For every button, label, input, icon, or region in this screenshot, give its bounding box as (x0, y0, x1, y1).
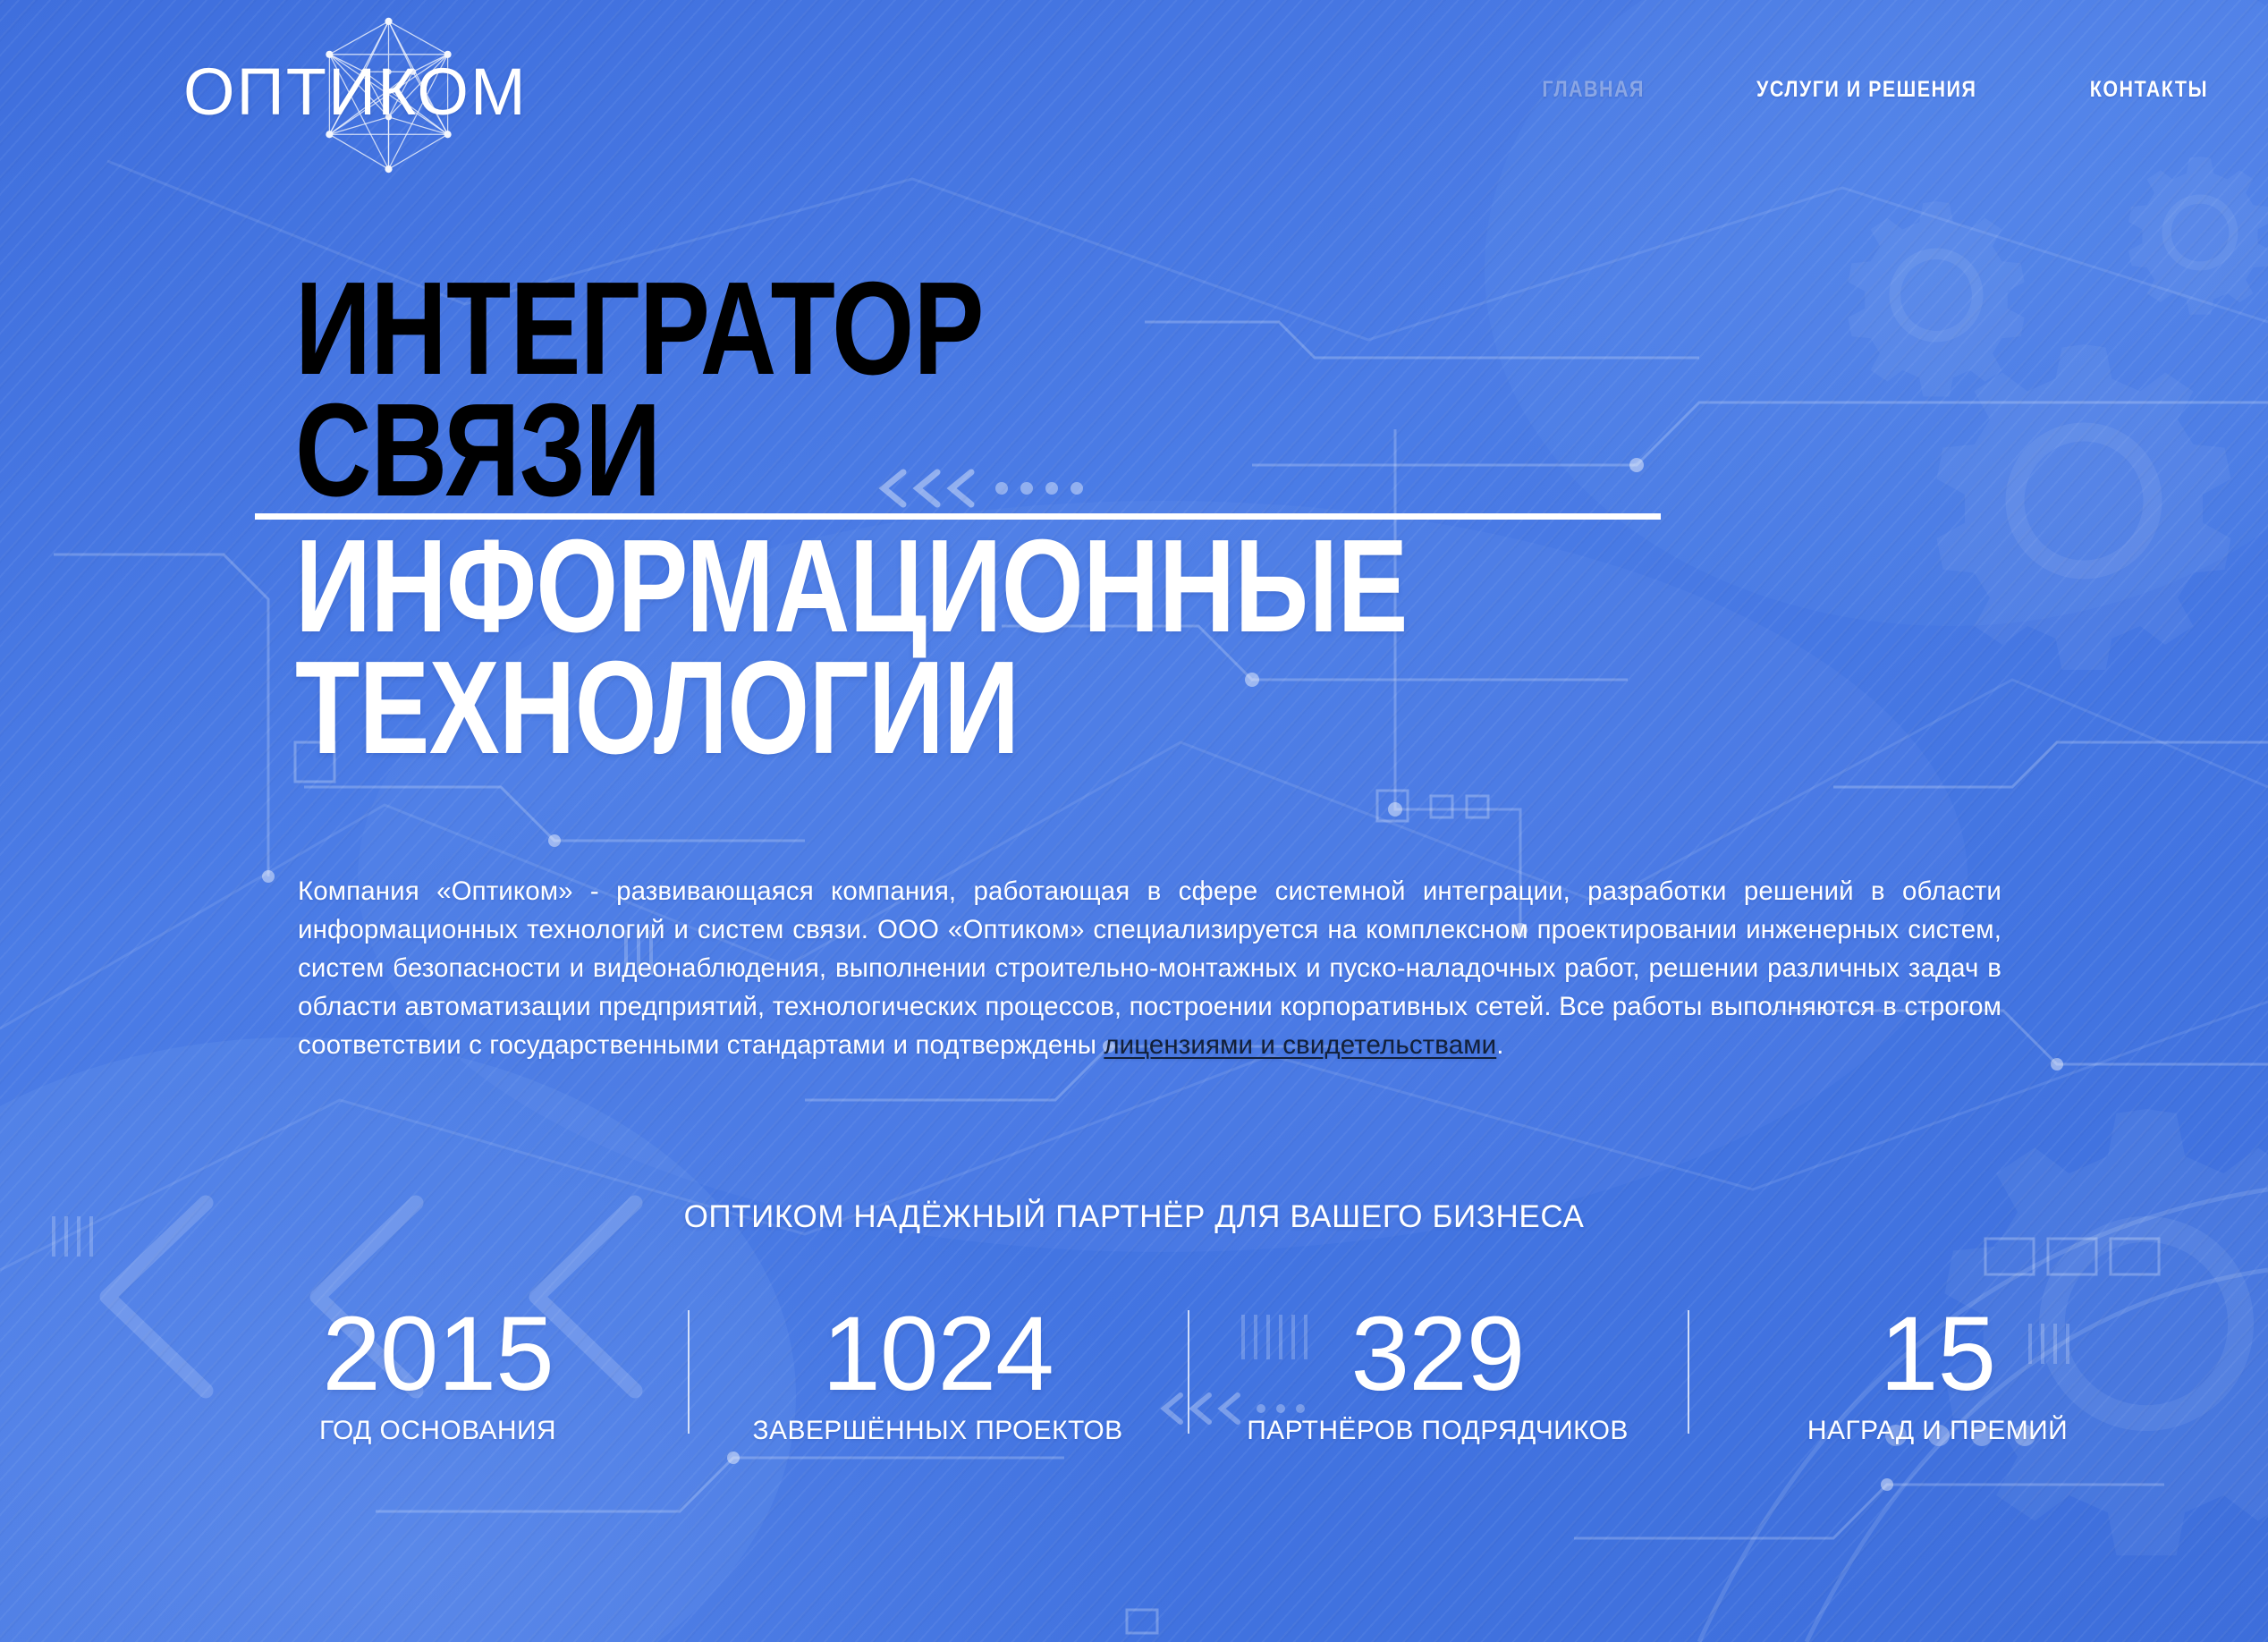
licenses-link[interactable]: лицензиями и свидетельствами (1104, 1030, 1496, 1060)
stats-heading: ОПТИКОМ НАДЁЖНЫЙ ПАРТНЁР ДЛЯ ВАШЕГО БИЗН… (0, 1199, 2268, 1235)
stat-value: 2015 (197, 1301, 679, 1407)
nav-item-services[interactable]: УСЛУГИ И РЕШЕНИЯ (1756, 77, 1976, 103)
stat-item-projects: 1024 ЗАВЕРШЁННЫХ ПРОЕКТОВ (688, 1301, 1188, 1446)
main-navigation: ГЛАВНАЯ УСЛУГИ И РЕШЕНИЯ КОНТАКТЫ (1534, 77, 2218, 103)
stat-item-awards: 15 НАГРАД И ПРЕМИЙ (1688, 1301, 2188, 1446)
hero-description-text-2: . (1496, 1030, 1503, 1060)
nav-item-contacts[interactable]: КОНТАКТЫ (2090, 77, 2208, 103)
logo[interactable]: ОПТИКОМ (183, 13, 496, 178)
stats-row: 2015 ГОД ОСНОВАНИЯ 1024 ЗАВЕРШЁННЫХ ПРОЕ… (188, 1301, 2188, 1446)
stat-item-partners: 329 ПАРТНЁРОВ ПОДРЯДЧИКОВ (1188, 1301, 1688, 1446)
stat-label: ПАРТНЁРОВ ПОДРЯДЧИКОВ (1197, 1416, 1679, 1446)
stat-value: 329 (1197, 1301, 1679, 1407)
logo-text: ОПТИКОМ (183, 59, 528, 125)
stat-label: ГОД ОСНОВАНИЯ (197, 1416, 679, 1446)
hero-description: Компания «Оптиком» - развивающаяся компа… (298, 872, 2001, 1064)
stat-label: НАГРАД И ПРЕМИЙ (1697, 1416, 2179, 1446)
stat-label: ЗАВЕРШЁННЫХ ПРОЕКТОВ (697, 1416, 1179, 1446)
hero-title-primary: ИНТЕГРАТОР СВЯЗИ (295, 268, 984, 512)
hero-title-secondary: ИНФОРМАЦИОННЫЕ ТЕХНОЛОГИИ (295, 526, 1408, 769)
stat-value: 15 (1697, 1301, 2179, 1407)
page-root: ОПТИКОМ ГЛАВНАЯ УСЛУГИ И РЕШЕНИЯ КОНТАКТ… (0, 0, 2268, 1642)
nav-item-home[interactable]: ГЛАВНАЯ (1542, 77, 1645, 103)
stat-item-founded: 2015 ГОД ОСНОВАНИЯ (188, 1301, 688, 1446)
stat-value: 1024 (697, 1301, 1179, 1407)
site-header: ОПТИКОМ ГЛАВНАЯ УСЛУГИ И РЕШЕНИЯ КОНТАКТ… (0, 0, 2268, 183)
